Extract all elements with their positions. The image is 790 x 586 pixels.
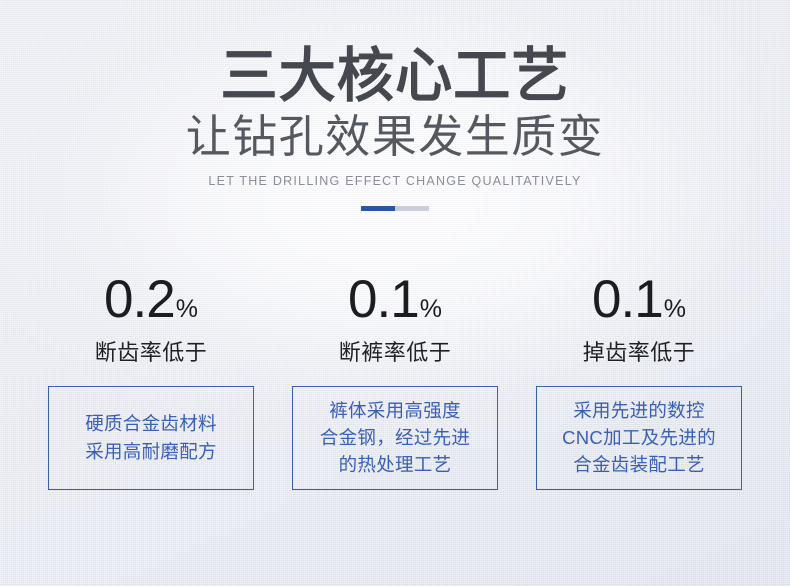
stat-label-2: 断裤率低于 — [292, 335, 498, 367]
stat-column-1: 0.2% 断齿率低于 硬质合金齿材料 采用高耐磨配方 — [48, 273, 254, 490]
headline-primary: 三大核心工艺 — [12, 46, 778, 105]
stat-value-1: 0.2 — [104, 270, 175, 329]
accent-divider-blue-segment — [361, 206, 395, 211]
stats-row: 0.2% 断齿率低于 硬质合金齿材料 采用高耐磨配方 0.1% 断裤率低于 裤体… — [0, 273, 790, 490]
stat-label-1: 断齿率低于 — [48, 335, 254, 367]
stat-column-2: 0.1% 断裤率低于 裤体采用高强度 合金钢，经过先进 的热处理工艺 — [292, 273, 498, 490]
stat-column-3: 0.1% 掉齿率低于 采用先进的数控 CNC加工及先进的 合金齿装配工艺 — [536, 273, 742, 490]
headline-secondary: 让钻孔效果发生质变 — [0, 113, 790, 161]
stat-value-3: 0.1 — [592, 270, 663, 329]
stat-box-text-1: 硬质合金齿材料 采用高耐磨配方 — [85, 410, 217, 465]
promo-poster: 三大核心工艺 让钻孔效果发生质变 LET THE DRILLING EFFECT… — [0, 0, 790, 586]
headline-english: LET THE DRILLING EFFECT CHANGE QUALITATI… — [0, 174, 790, 188]
stat-box-text-2: 裤体采用高强度 合金钢，经过先进 的热处理工艺 — [320, 397, 470, 479]
percent-symbol-3: % — [664, 295, 686, 323]
stat-number-3: 0.1% — [536, 273, 742, 326]
accent-divider-grey-segment — [395, 206, 429, 211]
percent-symbol-2: % — [420, 295, 442, 323]
poster-content: 三大核心工艺 让钻孔效果发生质变 LET THE DRILLING EFFECT… — [0, 0, 790, 586]
stat-number-2: 0.1% — [292, 273, 498, 326]
stat-number-1: 0.2% — [48, 273, 254, 326]
stat-value-2: 0.1 — [348, 270, 419, 329]
stat-box-2: 裤体采用高强度 合金钢，经过先进 的热处理工艺 — [292, 386, 498, 490]
stat-box-1: 硬质合金齿材料 采用高耐磨配方 — [48, 386, 254, 490]
stat-box-3: 采用先进的数控 CNC加工及先进的 合金齿装配工艺 — [536, 386, 742, 490]
percent-symbol-1: % — [176, 295, 198, 323]
stat-label-3: 掉齿率低于 — [536, 335, 742, 367]
poster-header: 三大核心工艺 让钻孔效果发生质变 LET THE DRILLING EFFECT… — [0, 0, 790, 211]
accent-divider — [361, 206, 429, 211]
stat-box-text-3: 采用先进的数控 CNC加工及先进的 合金齿装配工艺 — [562, 397, 716, 479]
